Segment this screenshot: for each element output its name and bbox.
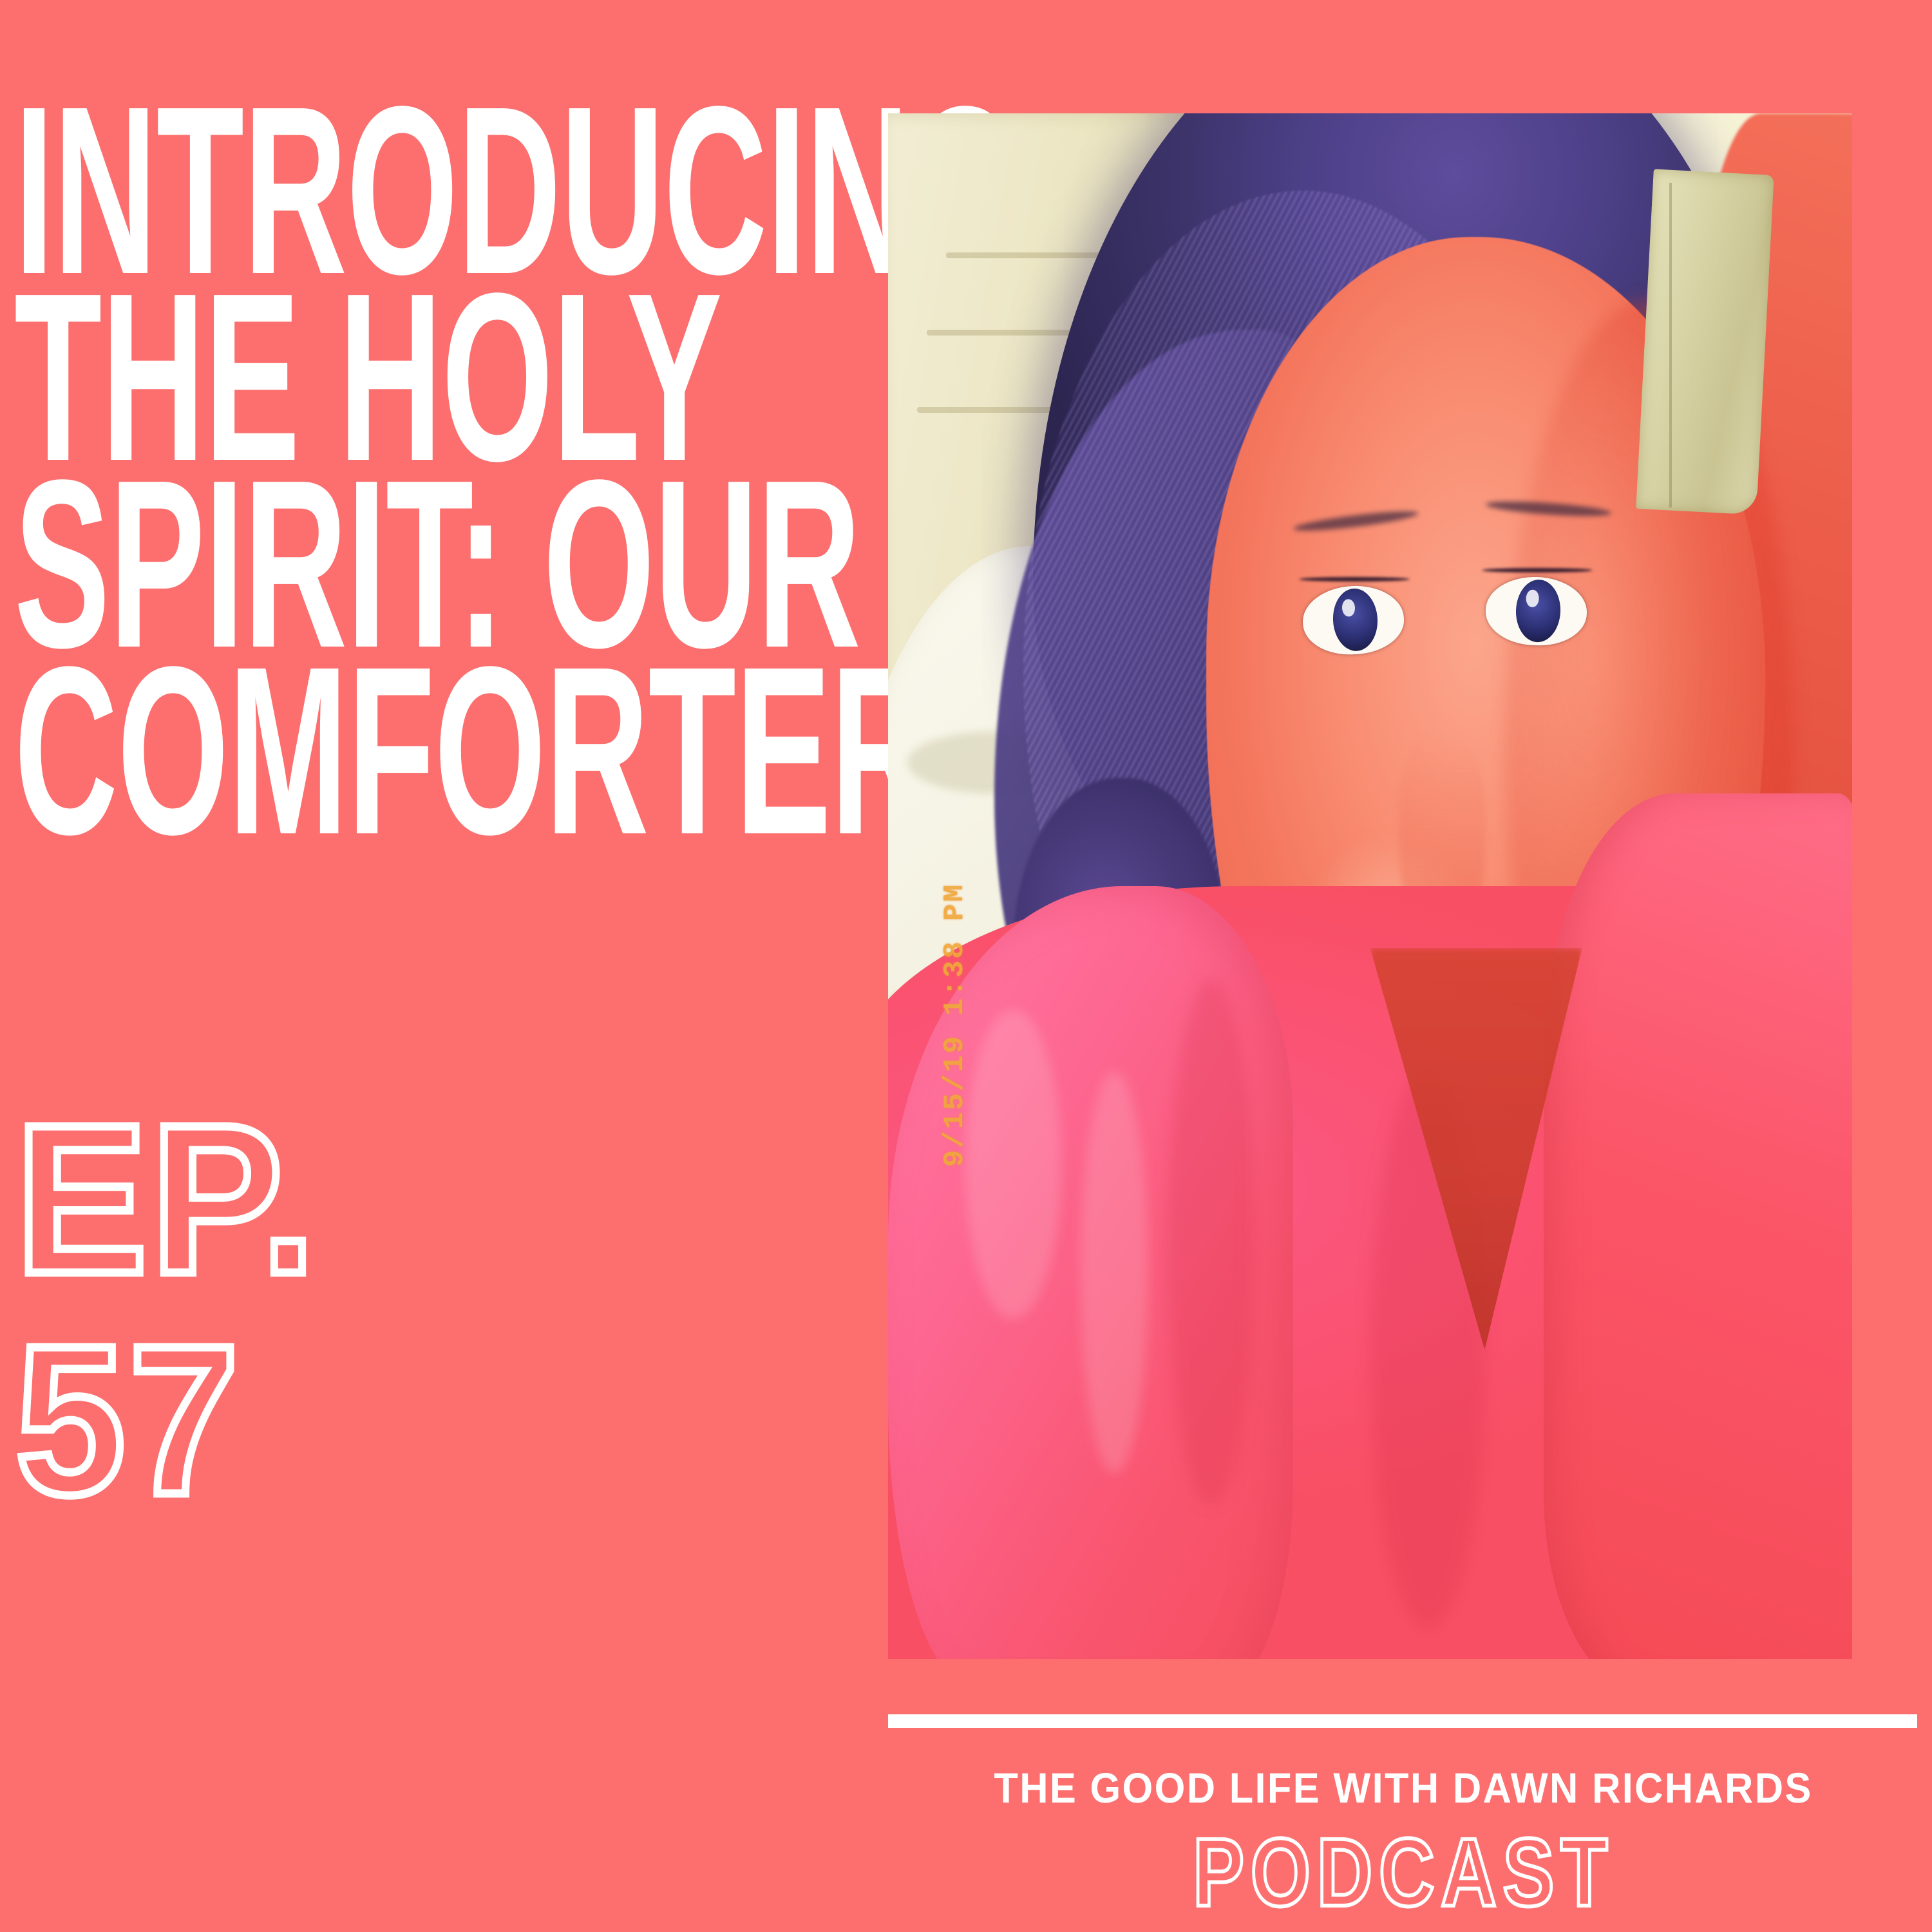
sleeve-fold bbox=[965, 1010, 1062, 1319]
sleeve-shadow bbox=[1168, 979, 1255, 1504]
episode-number: 57 bbox=[15, 1309, 554, 1530]
blouse-drape bbox=[1544, 793, 1852, 1659]
portrait-illustration: 9/15/19 1:38 PM bbox=[888, 113, 1852, 1659]
podcast-label: PODCAST bbox=[991, 1824, 1815, 1920]
episode-prefix: EP. bbox=[15, 1088, 554, 1309]
host-portrait-photo: 9/15/19 1:38 PM bbox=[888, 113, 1852, 1659]
eyelash-left bbox=[1299, 577, 1410, 582]
sleeve-fold bbox=[1081, 1072, 1148, 1473]
episode-title: INTRODUCING THE HOLY SPIRIT: OUR COMFORT… bbox=[14, 97, 890, 844]
photo-datestamp: 9/15/19 1:38 PM bbox=[939, 883, 971, 1167]
eyelash-right bbox=[1482, 568, 1593, 573]
hair-clip bbox=[1636, 169, 1774, 515]
iris-left bbox=[1331, 588, 1379, 653]
iris-right bbox=[1515, 579, 1562, 643]
episode-number-badge: EP. 57 bbox=[15, 1088, 595, 1530]
podcast-cover-artwork: INTRODUCING THE HOLY SPIRIT: OUR COMFORT… bbox=[0, 0, 1932, 1932]
show-title: THE GOOD LIFE WITH DAWN RICHARDS bbox=[924, 1763, 1882, 1812]
episode-title-line-4: COMFORTER bbox=[14, 657, 540, 844]
footer-divider-rule bbox=[888, 1714, 1917, 1728]
hair-clip-seam bbox=[1669, 183, 1672, 507]
